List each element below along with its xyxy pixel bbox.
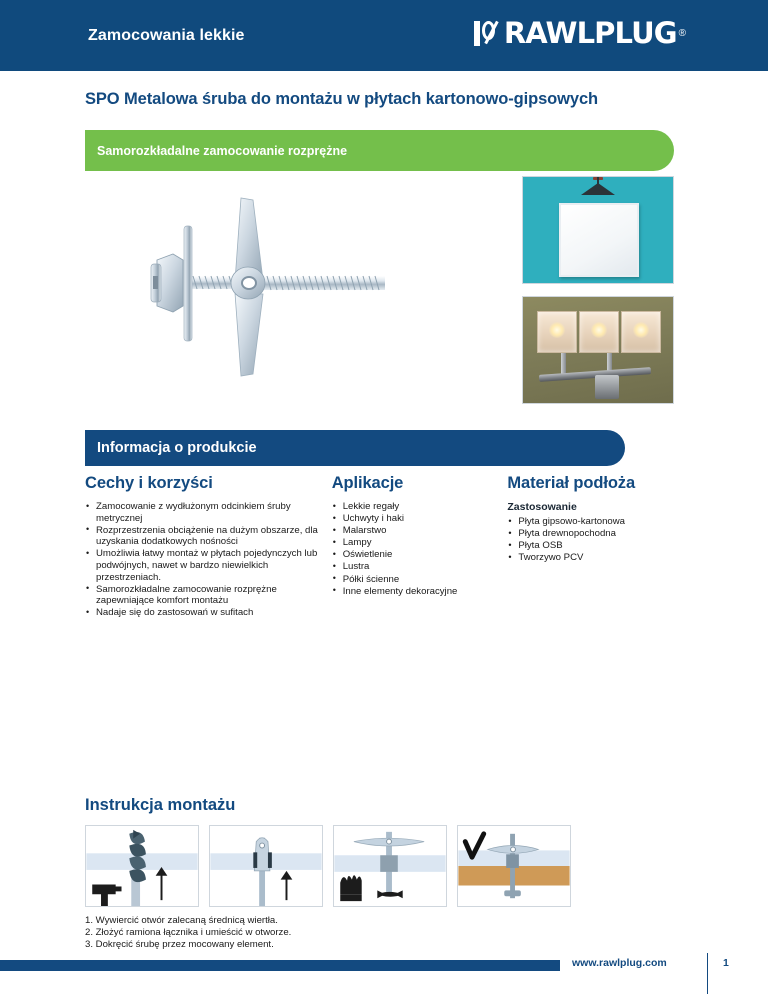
installation-step-images (85, 825, 685, 907)
list-item: Malarstwo (332, 525, 508, 537)
subtitle-banner-label: Samorozkładalne zamocowanie rozprężne (97, 144, 347, 158)
list-item: Płyta OSB (507, 540, 685, 552)
finished-install-illustration-icon (458, 826, 570, 906)
footer-divider (707, 953, 708, 994)
glass-cube-icon (579, 311, 619, 353)
applications-heading: Aplikacje (332, 474, 508, 493)
installation-section: Instrukcja montażu (85, 796, 685, 950)
header-section-title: Zamocowania lekkie (88, 27, 245, 45)
list-item: Płyta drewnopochodna (507, 528, 685, 540)
list-item: Umożliwia łatwy montaż w płytach pojedyn… (85, 548, 332, 583)
features-list: Zamocowanie z wydłużonym odcinkiem śruby… (85, 501, 332, 619)
glass-cube-icon (621, 311, 661, 353)
insert-anchor-step-image (209, 825, 323, 907)
framed-picture-on-teal-wall-photo (522, 176, 674, 284)
drill-illustration-icon (86, 826, 198, 906)
sconce-wall-plate-icon (595, 375, 619, 399)
info-columns: Cechy i korzyści Zamocowanie z wydłużony… (85, 474, 685, 619)
page-header: Zamocowania lekkie RAWLPLUG ® (0, 0, 768, 71)
subtitle-banner: Samorozkładalne zamocowanie rozprężne (85, 130, 674, 171)
page-title: SPO Metalowa śruba do montażu w płytach … (85, 90, 598, 109)
sconce-glass-shades-icon (537, 311, 661, 353)
features-heading: Cechy i korzyści (85, 474, 332, 493)
material-column: Materiał podłoża Zastosowanie Płyta gips… (507, 474, 685, 619)
list-item: Półki ścienne (332, 574, 508, 586)
hero-section (85, 176, 674, 416)
logo-mark-icon: RAWLPLUG ® (474, 21, 686, 47)
list-item: Inne elementy dekoracyjne (332, 586, 508, 598)
pendant-lamp-rod-icon (597, 177, 599, 184)
list-item: Lampy (332, 537, 508, 549)
side-photos (522, 176, 674, 404)
logo-slashed-o-icon (482, 21, 501, 46)
insert-anchor-illustration-icon (210, 826, 322, 906)
product-info-banner-label: Informacja o produkcie (97, 440, 257, 456)
material-list: Płyta gipsowo-kartonowa Płyta drewnopoch… (507, 516, 685, 564)
product-info-banner: Informacja o produkcie (85, 430, 625, 466)
wall-sconce-light-photo (522, 296, 674, 404)
list-item: 1. Wywiercić otwór zalecaną średnicą wie… (85, 915, 685, 927)
material-heading: Materiał podłoża (507, 474, 685, 493)
list-item: Rozprzestrzenia obciążenie na dużym obsz… (85, 525, 332, 548)
applications-column: Aplikacje Lekkie regały Uchwyty i haki M… (332, 474, 508, 619)
list-item: Płyta gipsowo-kartonowa (507, 516, 685, 528)
applications-list: Lekkie regały Uchwyty i haki Malarstwo L… (332, 501, 508, 597)
list-item: Oświetlenie (332, 549, 508, 561)
installation-steps-list: 1. Wywiercić otwór zalecaną średnicą wie… (85, 915, 685, 950)
list-item: Tworzywo PCV (507, 552, 685, 564)
pendant-lamp-shade-icon (581, 183, 615, 195)
toggle-bolt-illustration-icon (85, 176, 515, 416)
list-item: Lustra (332, 561, 508, 573)
footer-website-link[interactable]: www.rawlplug.com (572, 957, 667, 969)
footer-page-number: 1 (723, 957, 729, 969)
tighten-screw-step-image (457, 825, 571, 907)
toggle-bolt-product-photo (85, 176, 515, 416)
logo-wordmark: RAWLPLUG (504, 21, 677, 46)
list-item: Nadaje się do zastosowań w sufitach (85, 607, 332, 619)
sconce-stem-icon (561, 353, 566, 375)
expand-anchor-step-image (333, 825, 447, 907)
list-item: Zamocowanie z wydłużonym odcinkiem śruby… (85, 501, 332, 524)
picture-frame-icon (559, 203, 639, 277)
list-item: Lekkie regały (332, 501, 508, 513)
list-item: Samorozkładalne zamocowanie rozprężne za… (85, 584, 332, 607)
hand-icon (340, 875, 361, 901)
material-subheading: Zastosowanie (507, 501, 685, 513)
up-arrow-icon (156, 867, 168, 900)
logo-bar-icon (474, 21, 480, 46)
list-item: 2. Złożyć ramiona łącznika i umieścić w … (85, 927, 685, 939)
drill-hole-step-image (85, 825, 199, 907)
drill-tool-icon (92, 885, 121, 906)
features-column: Cechy i korzyści Zamocowanie z wydłużony… (85, 474, 332, 619)
glass-cube-icon (537, 311, 577, 353)
list-item: 3. Dokręcić śrubę przez mocowany element… (85, 939, 685, 951)
registered-trademark-icon: ® (679, 29, 686, 39)
rawlplug-logo[interactable]: RAWLPLUG ® (474, 21, 686, 51)
expand-anchor-illustration-icon (334, 826, 446, 906)
list-item: Uchwyty i haki (332, 513, 508, 525)
footer-rule (0, 960, 560, 971)
up-arrow-icon (281, 871, 293, 900)
installation-heading: Instrukcja montażu (85, 796, 685, 815)
